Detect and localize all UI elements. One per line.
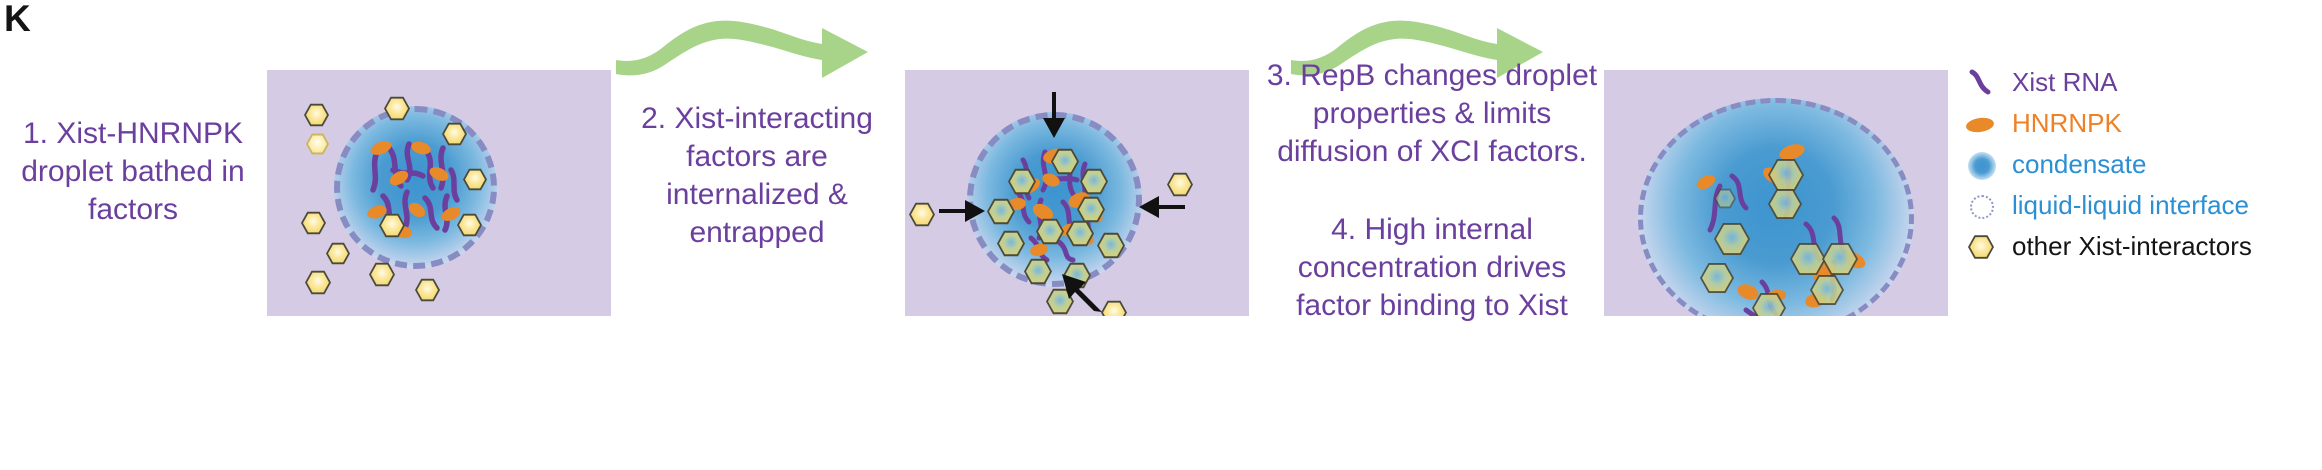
bound-xist-interactor-hexagon (1714, 188, 1736, 209)
legend: Xist RNA HNRNPK condensate liquid-liquid… (1960, 62, 2322, 267)
internal-xist-interactor-hexagon (1077, 196, 1105, 223)
hnrnpk-icon (1960, 107, 2012, 141)
legend-label: HNRNPK (2012, 108, 2122, 139)
internal-xist-interactor-hexagon (1008, 168, 1036, 195)
legend-label: other Xist-interactors (2012, 231, 2252, 262)
bound-xist-interactor-hexagon (1714, 222, 1750, 256)
xist-interactor-hexagon (369, 262, 395, 287)
legend-label: liquid-liquid interface (2012, 190, 2249, 221)
legend-item-liquid-interface: liquid-liquid interface (1960, 185, 2322, 226)
influx-arrow-bottom (1060, 268, 1108, 316)
step-4-caption: 4. High internal concentration drives fa… (1262, 211, 1602, 325)
internal-xist-interactor-hexagon (997, 230, 1025, 257)
xist-interactor-hexagon (442, 122, 467, 146)
other-interactor-hexagon-icon (1960, 230, 2012, 264)
legend-item-xist-rna: Xist RNA (1960, 62, 2322, 103)
liquid-interface-icon (1960, 189, 2012, 223)
internal-xist-interactor-hexagon (1036, 218, 1064, 245)
internal-xist-interactor-hexagon (987, 198, 1015, 225)
influx-arrow-top (1037, 92, 1071, 142)
illustration-3 (1604, 70, 1948, 316)
influx-arrow-left (939, 194, 989, 228)
step-1-caption: 1. Xist-HNRNPK droplet bathed in factors (4, 115, 262, 229)
internal-xist-interactor-hexagon (1024, 258, 1052, 285)
xist-interactor-hexagon (415, 278, 440, 302)
bound-xist-interactor-hexagon (1768, 158, 1804, 192)
xist-interactor-hexagon (909, 202, 935, 227)
xist-interactor-hexagon (384, 96, 410, 121)
xist-interactor-hexagon (457, 213, 482, 237)
condensate-icon (1960, 148, 2012, 182)
bound-xist-interactor-hexagon (1700, 262, 1734, 294)
illustration-1 (267, 70, 611, 316)
internal-xist-interactor-hexagon (1080, 168, 1108, 195)
legend-label: Xist RNA (2012, 67, 2117, 98)
internal-xist-interactor-hexagon (1051, 148, 1079, 175)
xist-interactor-hexagon (306, 133, 329, 155)
xist-interactor-hexagon (304, 103, 329, 127)
bound-xist-interactor-hexagon (1752, 292, 1786, 316)
xist-rna-icon (1960, 66, 2012, 100)
xist-interactor-hexagon (301, 211, 326, 235)
influx-arrow-right (1133, 190, 1185, 224)
panel-letter: K (4, 0, 30, 37)
bound-xist-interactor-hexagon (1822, 242, 1858, 276)
xist-interactor-hexagon (379, 213, 405, 238)
xist-interactor-hexagon (463, 168, 487, 191)
step-3-caption: 3. RepB changes droplet properties & lim… (1262, 57, 1602, 171)
illustration-2 (905, 70, 1249, 316)
legend-item-condensate: condensate (1960, 144, 2322, 185)
transition-arrow-1 (610, 8, 910, 88)
bound-xist-interactor-hexagon (1810, 274, 1844, 306)
xist-interactor-hexagon (326, 242, 350, 265)
bound-xist-interactor-hexagon (1790, 242, 1826, 276)
internal-xist-interactor-hexagon (1097, 232, 1125, 259)
bound-xist-interactor-hexagon (1768, 188, 1802, 220)
internal-xist-interactor-hexagon (1066, 220, 1094, 247)
legend-item-hnrnpk: HNRNPK (1960, 103, 2322, 144)
figure-panel-k: K 1. Xist-HNRNPK droplet bathed in facto… (0, 0, 2322, 470)
xist-interactor-hexagon (305, 270, 331, 295)
step-2-caption: 2. Xist-interacting factors are internal… (612, 100, 902, 252)
legend-item-other-interactors: other Xist-interactors (1960, 226, 2322, 267)
legend-label: condensate (2012, 149, 2146, 180)
